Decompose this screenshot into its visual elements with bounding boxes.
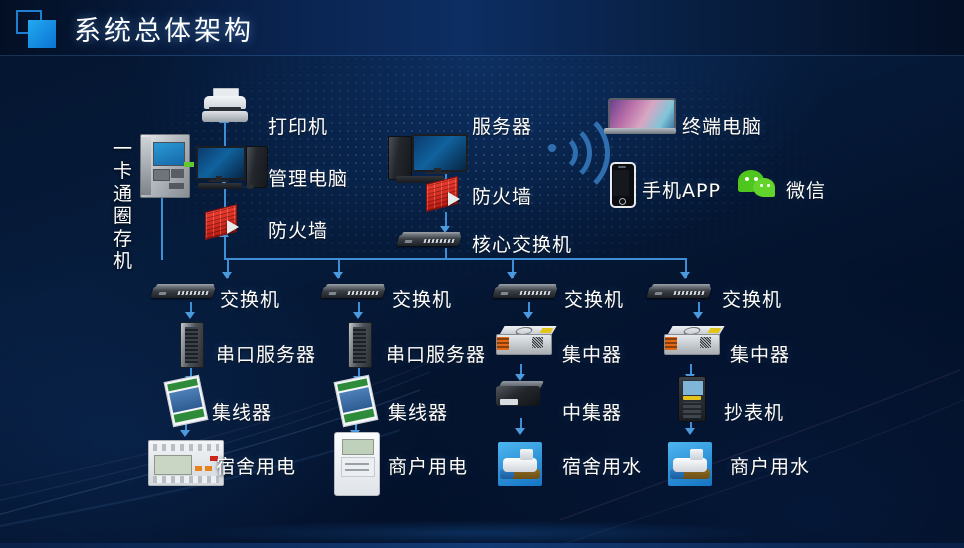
wifi-arc-3	[520, 108, 610, 198]
bus-line-main	[224, 258, 686, 260]
concentrator-terminal-block	[497, 337, 509, 350]
switch-icon-2[interactable]	[322, 284, 384, 300]
concentrator-icon-1[interactable]	[496, 326, 556, 356]
label-core-switch: 核心交换机	[472, 230, 572, 257]
link-bus-card-kiosk	[161, 196, 163, 260]
mgmt-pc-tower	[246, 146, 268, 188]
label-terminal-pc: 终端电脑	[682, 112, 762, 139]
mgmt-pc-monitor	[196, 146, 246, 180]
water-meter-cap	[690, 449, 703, 460]
switch-led	[405, 240, 413, 243]
midc-ports	[500, 399, 518, 405]
label-printer: 打印机	[268, 112, 328, 139]
kiosk-side-panel	[141, 137, 151, 195]
desktop-computer-icon[interactable]	[196, 146, 274, 188]
water-meter-icon-shop[interactable]	[668, 442, 712, 486]
kiosk-keypad	[171, 169, 184, 178]
laptop-screen	[608, 98, 676, 132]
laptop-base	[604, 128, 676, 134]
wifi-origin-dot	[548, 144, 556, 152]
rack-server-icon-1[interactable]	[180, 322, 204, 368]
arrow-switch1-to-serialserver	[185, 312, 195, 319]
kiosk-cash-slot	[169, 183, 184, 189]
label-hub-1: 集线器	[212, 398, 272, 425]
kiosk-screen	[153, 142, 185, 166]
mgmt-pc-keyboard	[198, 183, 242, 189]
server-monitor-base	[426, 172, 450, 174]
label-switch-4: 交换机	[722, 285, 782, 312]
label-dorm-water: 宿舍用水	[562, 452, 642, 479]
page-title: 系统总体架构	[74, 9, 254, 48]
label-wechat: 微信	[786, 176, 826, 203]
mgmt-pc-stand-base	[209, 180, 229, 182]
label-switch-3: 交换机	[564, 285, 624, 312]
kiosk-card-slot	[153, 169, 170, 181]
meter-button-1	[195, 466, 202, 471]
switch-icon-core[interactable]	[398, 232, 460, 248]
laptop-icon[interactable]	[604, 98, 676, 138]
arrow-to-switch-1	[222, 272, 232, 279]
rack-server-icon-2[interactable]	[348, 322, 372, 368]
water-meter-body	[503, 458, 537, 472]
hub-module-icon-1[interactable]	[168, 378, 204, 424]
phone-speaker	[618, 166, 626, 168]
label-meter-reader: 抄表机	[724, 398, 784, 425]
meter-bottom-terminals	[153, 476, 219, 483]
label-serial-server-1: 串口服务器	[216, 340, 316, 367]
smeter-lcd	[342, 439, 374, 455]
concentrator-label	[532, 337, 543, 348]
rack-door	[353, 327, 366, 363]
link-firewall-mgmtpc	[224, 186, 226, 208]
smeter-panel	[341, 457, 375, 477]
switch-ports	[423, 239, 454, 243]
wechat-icon[interactable]	[738, 170, 778, 200]
link-coreswitch-bus	[445, 248, 447, 260]
water-meter-icon-dorm[interactable]	[498, 442, 542, 486]
reader-screen	[682, 380, 704, 396]
card-kiosk-icon[interactable]	[140, 134, 190, 198]
handheld-reader-icon[interactable]	[678, 376, 706, 422]
label-hub-2: 集线器	[388, 398, 448, 425]
hub-module-icon-2[interactable]	[338, 378, 374, 424]
label-mid-concentrator: 中集器	[562, 398, 622, 425]
concentrator-terminal-block	[665, 337, 677, 350]
title-bar-divider	[0, 55, 964, 56]
bottom-accent-bar	[0, 543, 964, 548]
phone-screen	[613, 170, 629, 196]
label-firewall-left: 防火墙	[268, 216, 328, 243]
label-switch-1: 交换机	[220, 285, 280, 312]
server-monitor	[412, 134, 468, 172]
arrow-to-switch-2	[333, 272, 343, 279]
firewall-icon-core[interactable]	[426, 178, 466, 210]
label-management-pc: 管理电脑	[268, 164, 348, 191]
arrow-meterreader-to-shopwater	[685, 428, 695, 435]
mgmt-pc-mouse	[246, 184, 254, 189]
switch-icon-1[interactable]	[152, 284, 214, 300]
printer-base	[202, 111, 248, 122]
arrow-switch2-to-serialserver2	[353, 312, 363, 319]
phone-home-button	[619, 198, 626, 205]
label-shop-water: 商户用水	[730, 452, 810, 479]
label-switch-2: 交换机	[392, 285, 452, 312]
smeter-line-1	[345, 463, 369, 465]
smartphone-icon[interactable]	[610, 162, 636, 208]
water-meter-body	[673, 458, 707, 472]
link-bus-firewall-left	[224, 236, 226, 260]
arrow-to-switch-4	[680, 272, 690, 279]
firewall-arrow	[227, 220, 239, 234]
label-shop-power: 商户用电	[388, 452, 468, 479]
architecture-diagram-slide: 系统总体架构	[0, 0, 964, 548]
firewall-icon-left[interactable]	[205, 206, 245, 238]
label-dorm-power: 宿舍用电	[216, 452, 296, 479]
label-card-kiosk: 一卡通圈存机	[113, 138, 132, 272]
firewall-arrow	[448, 192, 460, 206]
label-concentrator-2: 集中器	[730, 340, 790, 367]
label-concentrator-1: 集中器	[562, 340, 622, 367]
reader-keypad	[683, 402, 701, 418]
water-meter-cap	[520, 449, 533, 460]
rack-door	[185, 327, 198, 363]
arrow-switch3-to-concentrator1	[523, 312, 533, 319]
server-tower	[388, 136, 412, 180]
din-electric-meter-icon[interactable]	[148, 440, 224, 486]
switch-icon-3[interactable]	[494, 284, 556, 300]
meter-lcd	[154, 455, 192, 475]
logo-filled-square	[28, 20, 56, 48]
smeter-line-2	[345, 469, 369, 471]
app-logo	[16, 10, 62, 50]
meter-button-2	[205, 466, 212, 471]
switch-icon-4[interactable]	[648, 284, 710, 300]
printer-icon[interactable]	[202, 88, 248, 124]
mid-concentrator-icon[interactable]	[496, 380, 544, 410]
meter-top-terminals	[153, 444, 219, 451]
reader-yellow-strip	[683, 396, 701, 400]
label-mobile-app: 手机APP	[642, 176, 721, 203]
arrow-hub1-to-dormpower	[180, 430, 190, 437]
label-firewall-core: 防火墙	[472, 182, 532, 209]
arrow-switch4-to-concentrator2	[693, 312, 703, 319]
arrow-midconcentrator-to-dormwater	[515, 428, 525, 435]
concentrator-icon-2[interactable]	[664, 326, 724, 356]
arrow-to-switch-3	[507, 272, 517, 279]
single-phase-meter-icon[interactable]	[334, 432, 380, 496]
label-serial-server-2: 串口服务器	[386, 340, 486, 367]
concentrator-label	[700, 337, 711, 348]
link-mgmtpc-printer	[224, 122, 226, 148]
